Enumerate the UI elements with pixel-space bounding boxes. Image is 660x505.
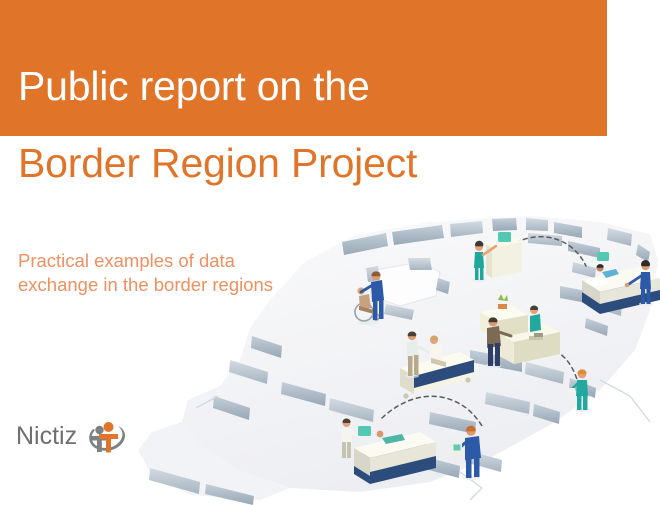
page-title-line-2: Border Region Project — [18, 143, 417, 184]
document-cover: Public report on the Border Region Proje… — [0, 0, 660, 505]
nictiz-figure-mark-icon — [84, 415, 128, 459]
cover-illustration — [130, 200, 660, 505]
page-subtitle: Practical examples of data exchange in t… — [18, 249, 273, 298]
nictiz-logo: Nictiz — [16, 415, 126, 461]
nictiz-wordmark: Nictiz — [16, 424, 77, 449]
page-title-line-1: Public report on the — [18, 66, 370, 107]
